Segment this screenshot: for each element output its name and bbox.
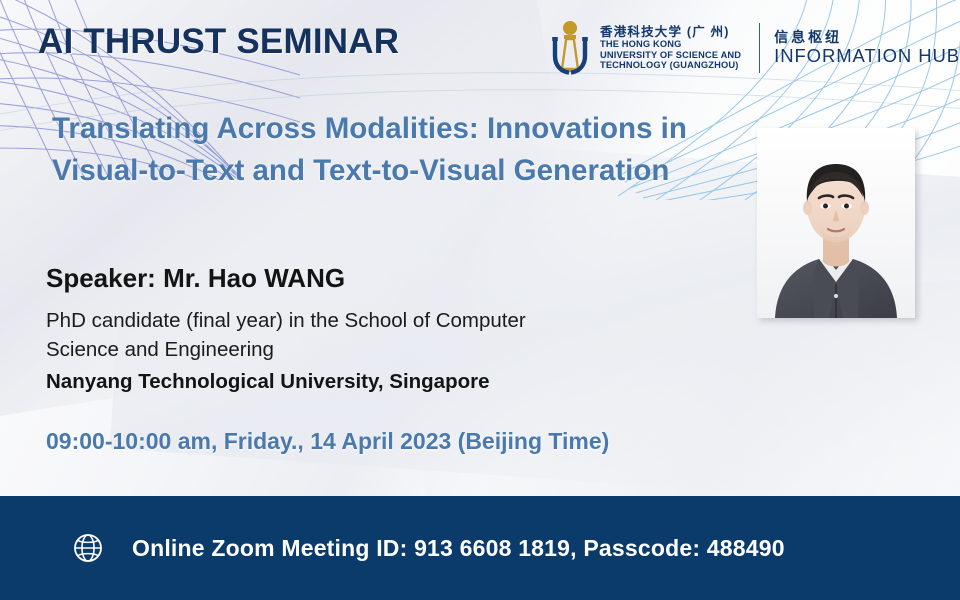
university-name-en-line2: UNIVERSITY OF SCIENCE AND bbox=[600, 50, 741, 61]
globe-icon bbox=[72, 532, 104, 564]
seminar-datetime: 09:00-10:00 am, Friday., 14 April 2023 (… bbox=[46, 428, 609, 455]
talk-title-line-1: Translating Across Modalities: Innovatio… bbox=[52, 108, 742, 150]
branding-lockup: 香港科技大学 (广 州) THE HONG KONG UNIVERSITY OF… bbox=[548, 17, 960, 79]
branding-divider bbox=[759, 23, 760, 73]
speaker-portrait-image bbox=[757, 128, 915, 318]
information-hub-block: 信息枢纽 INFORMATION HUB bbox=[774, 29, 960, 67]
information-hub-en: INFORMATION HUB bbox=[774, 45, 960, 67]
university-name-block: 香港科技大学 (广 州) THE HONG KONG UNIVERSITY OF… bbox=[600, 25, 741, 71]
university-name-en-line3: TECHNOLOGY (GUANGZHOU) bbox=[600, 60, 741, 71]
page-title: AI THRUST SEMINAR bbox=[38, 22, 399, 62]
seminar-poster: AI THRUST SEMINAR 香港科技大学 (广 州) THE HONG … bbox=[0, 0, 960, 600]
zoom-meeting-info: Online Zoom Meeting ID: 913 6608 1819, P… bbox=[132, 535, 785, 562]
footer-bar: Online Zoom Meeting ID: 913 6608 1819, P… bbox=[0, 496, 960, 600]
speaker-affiliation-line-1: PhD candidate (final year) in the School… bbox=[46, 306, 666, 335]
speaker-affiliation: PhD candidate (final year) in the School… bbox=[46, 306, 666, 364]
talk-title: Translating Across Modalities: Innovatio… bbox=[52, 108, 742, 192]
information-hub-cn: 信息枢纽 bbox=[774, 29, 960, 46]
speaker-organization: Nanyang Technological University, Singap… bbox=[46, 370, 490, 394]
university-name-en-line1: THE HONG KONG bbox=[600, 39, 741, 50]
hkust-gz-torch-logo-icon bbox=[548, 20, 592, 76]
speaker-portrait bbox=[757, 128, 915, 318]
speaker-affiliation-line-2: Science and Engineering bbox=[46, 335, 666, 364]
university-name-cn: 香港科技大学 (广 州) bbox=[600, 25, 741, 39]
speaker-name: Speaker: Mr. Hao WANG bbox=[46, 263, 345, 294]
talk-title-line-2: Visual-to-Text and Text-to-Visual Genera… bbox=[52, 150, 742, 192]
